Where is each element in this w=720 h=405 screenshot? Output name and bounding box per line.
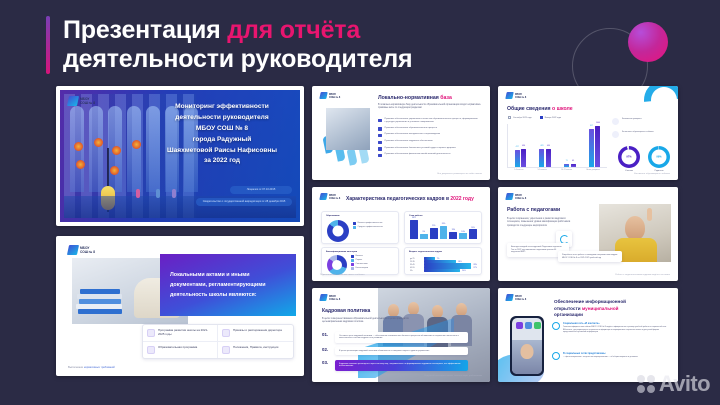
list-item-label: Программа развития школы на 2021-2025 го… [158,329,213,337]
x-tick-label: 10-11 классы [561,169,572,171]
presentation-preview-card: Презентация для отчёта деятельности руко… [0,0,720,405]
legend-label: Среднее профессиональное [358,226,383,229]
avito-logo-icon [637,375,655,393]
heading-main: Характеристика педагогических кадров в [346,196,449,202]
heading-line2-main: открытости [554,306,581,311]
documents-card-list: Программа развития школы на 2021-2025 го… [142,324,294,359]
title-line2: деятельности руководителя [63,45,412,74]
logo-line2: СОШ № 8 [515,298,526,301]
normative-items-list: Правовое обеспечение управления и качест… [378,118,482,160]
legend-swatch [353,222,356,225]
gauge-value: 97% [622,150,637,165]
list-item: Правовое обеспечение управления и качест… [378,118,482,124]
logo-mark-icon [319,92,327,99]
slide-footer: Педагогический коллектив школы стабилен [320,274,364,276]
list-item-label: Правовое обеспечение финансово-хозяйстве… [385,153,451,156]
logo-line2: СОШ № 8 [515,96,526,99]
logo-line2: СОШ № 8 [80,250,95,254]
network-icon [552,352,560,360]
slide-intro: В локально-нормативную базу деятельности… [378,104,482,111]
x-tick-label: Всего учащихся [586,169,599,171]
donut-chart [327,220,349,242]
list-item: Правовое обеспечение безопасных условий … [378,147,482,151]
bar-chart: 38% 9% 21% 26% 13% 10% 18% [410,216,477,239]
school-logo: МБОУ СОШ № 8 [506,294,526,301]
horizontal-bar-chart: до 257% 25-3518% 35-4528% 45-5527% 55+20… [410,257,477,271]
school-logo: МБОУ СОШ № 8 [320,294,340,301]
slide-heading: Кадровая политика [322,308,370,314]
slide-intro: В целях сохранения, укрепления и развити… [507,218,577,228]
normative-photo [326,108,370,150]
chart-legend: Высшее профессиональное Среднее професси… [353,222,397,230]
note-text: Количество учащихся [622,118,674,121]
info-icon [612,118,619,125]
legend-label: Высшее профессиональное [358,222,383,225]
person-figure [136,189,140,198]
person-figure [156,189,160,198]
list-item-label: Правовое обеспечение безопасных условий … [385,147,456,150]
slide-school-info[interactable]: МБОУ СОШ № 8 Общие сведения о школе Сент… [498,86,678,180]
rules-icon [222,346,230,354]
bullet-icon [378,127,382,131]
list-item: Правовое обеспечение кадрового обеспечен… [378,140,482,144]
slide-title-heading: Мониторинг эффективности деятельности ру… [152,102,292,167]
slide-intro: В целях совершенствования образовательно… [322,318,410,325]
flower-decor [76,160,85,169]
list-item-label: Правовое обеспечение управления и качест… [385,118,483,124]
openness-section-2: В социальных сетях представлены — фото м… [552,352,670,360]
accent-bar [46,16,50,74]
heading-main: Общие сведения [507,106,551,112]
bullet-icon [378,119,382,123]
legend-label: Январь 2022 года [545,117,561,119]
list-item[interactable]: Программа развития школы на 2021-2025 го… [143,325,218,342]
gauge-value: 99% [652,150,667,165]
panel-line: деятельность школы являются: [170,290,266,300]
legend-label: Сентябрь 2021 года [513,117,532,119]
numbered-item: 02. В целях реализации кадровой политики… [322,347,468,355]
slide-heading: Локально-нормативная база [378,95,452,101]
heading-line: города Радужный [152,135,292,146]
slide-staff-characteristics[interactable]: МБОУ СОШ № 8 Характеристика педагогическ… [312,187,490,281]
logo-line2: СОШ № 8 [329,298,340,301]
hand-shape [647,208,652,221]
app-icon [525,322,532,329]
list-item[interactable]: Образовательная программа [143,342,218,358]
x-tick-label: 1-4 классы [514,169,523,171]
school-logo: МБОУ СОШ № 8 [320,92,340,99]
heading-line2-accent: муниципальной [582,306,619,311]
slide-title[interactable]: МБОУ СОШ № 8 Мониторинг эффективности де… [56,86,304,226]
slide-hr-policy[interactable]: МБОУ СОШ № 8 Кадровая политика В целях с… [312,288,490,382]
face-shape [521,344,534,359]
list-item-label: Правовое обеспечение образовательного пр… [385,127,438,130]
item-number: 01. [322,332,332,337]
legend-label: Первая [356,259,363,262]
school-logo: МБОУ СОШ № 8 [320,193,340,200]
item-text: Основная цель кадровой политики — обеспе… [335,332,468,343]
avito-wordmark: Avito [659,371,710,397]
slide-heading: Работа с педагогами [507,207,560,213]
heading-accent: база [440,95,452,101]
heading-line: за 2022 год [152,156,292,167]
enrollment-bar-chart: 417436 423450 7165 9171000 [507,124,607,168]
logo-mark-icon [67,96,79,106]
decor-drop [346,147,357,165]
list-item: Правовое обеспечение финансово-хозяйстве… [378,153,482,157]
list-item-label: Положения, Правила, инструкции [233,346,278,350]
numbered-item: 03. Кадровая политика реализуется через … [322,360,468,371]
logo-line2: СОШ № 8 [329,96,340,99]
slide-footer: Контингент обучающихся стабилен [634,173,670,175]
heading-line3: организации [554,312,666,319]
slide-information-openness[interactable]: МБОУ СОШ № 8 Обеспечение информационной … [498,288,678,382]
chart-qualification: Квалификационная категория Высшая Первая… [321,247,399,275]
school-logo: МБОУ СОШ № 8 [68,245,95,255]
donut-chart [327,255,347,275]
flower-decor [94,138,103,147]
flower-decor [74,142,83,151]
page-title: Презентация для отчёта деятельности руко… [63,16,412,74]
heading-line: Мониторинг эффективности [152,102,292,113]
accreditation-badge: Свидетельство о государственной аккредит… [196,198,292,206]
logo-line2: СОШ № 8 [80,101,95,105]
logo-mark-icon [319,193,327,200]
list-item[interactable]: Положения, Правила, инструкции [218,342,293,358]
item-number: 02. [322,347,332,352]
app-icon [534,322,541,329]
section-text: Главным официальным сайтом МБОУ СОШ № 8 … [563,326,670,334]
heading-line: МБОУ СОШ № 8 [152,124,292,135]
title-line1-accent: для отчёта [227,16,360,44]
logo-line2: СОШ № 8 [329,197,340,200]
heading-accent: о школе [552,106,573,112]
flower-decor [110,166,119,175]
gauge-parents: 99% [648,146,670,168]
section-text: — фото материалов с актуальных мероприят… [563,356,638,359]
slide-footer: Кадровый потенциал школы соответствует т… [424,375,482,377]
heading-line: Шаяхметовой Раисы Нафисовны [152,146,292,157]
slide-work-with-teachers[interactable]: МБОУ СОШ № 8 Работа с педагогами В целях… [498,187,678,281]
openness-section-1: Социальная сеть «В контакте» Главным офи… [552,322,670,334]
list-item-label: Правовое обеспечение кадрового обеспечен… [385,140,433,143]
license-badge: Лицензия от 07.10.2015 [230,186,292,194]
slide-footer: Работа с педагогическими кадрами ведётся… [615,274,670,276]
item-text: В целях реализации кадровой политики обн… [335,347,468,355]
legend-swatch [353,226,356,229]
slides-grid: МБОУ СОШ № 8 Мониторинг эффективности де… [56,86,678,386]
heading-main: Локально-нормативная [378,95,439,101]
title-line1-main: Презентация [63,16,221,44]
footer-static: Выполнение [68,366,84,369]
slide-heading: Характеристика педагогических кадров в 2… [346,196,474,202]
bullet-icon [378,134,382,138]
section-heading: Социальная сеть «В контакте» [563,322,670,325]
phone-mockup [510,316,544,376]
panel-line: Локальными актами и иными [170,270,266,280]
flower-decor [132,140,141,149]
gauge-label: Ученики [616,170,642,172]
heading-line: деятельности руководителя [152,113,292,124]
chart-age: Возраст педагогических кадров до 257% 25… [404,247,482,275]
bullet-icon [378,147,382,151]
list-item: Правовое обеспечение образовательного пр… [378,127,482,131]
flower-decor [112,146,121,155]
slide-documents[interactable]: МБОУ СОШ № 8 Локальными актами и иными д… [56,236,304,376]
numbered-item: 01. Основная цель кадровой политики — об… [322,332,468,343]
page-header: Презентация для отчёта деятельности руко… [46,16,412,74]
gauge-students: 97% [618,146,640,168]
documents-panel: Локальными актами и иными документами, р… [160,254,296,316]
heading-accent: 2022 году [450,196,474,202]
clock-icon [612,131,619,138]
program-icon [147,346,155,354]
heading-line1: Обеспечение информационной [554,299,666,306]
legend-label: Без категории [356,267,368,270]
legend-label: Соответствие [356,263,368,266]
list-item-label: Образовательная программа [158,346,197,350]
chart-legend: Сентябрь 2021 года Январь 2022 года [508,116,561,119]
logo-mark-icon [67,245,79,255]
logo-mark-icon [505,294,513,301]
info-note: Контингент обучающихся стабилен [612,131,674,138]
phone-screen [512,318,542,374]
list-item[interactable]: Приказы и распоряжения директора [218,325,293,342]
vk-icon [552,322,560,330]
app-icon [516,322,523,329]
slide-footer: Выполнение нормативных требований [68,366,115,369]
bullet-icon [378,141,382,145]
order-icon [222,329,230,337]
info-card: Разработан план работы с молодыми специа… [558,251,622,262]
chart-experience: Стаж работы 38% 9% 21% 26% 13% 10% 18% [404,211,482,244]
logo-mark-icon [505,193,513,200]
face-shape [625,216,645,240]
person-figure [172,189,176,198]
footer-link: нормативных требований [84,366,115,369]
slide-footer: Все документы размещены на сайте школы [437,173,482,175]
avito-watermark: Avito [637,371,710,397]
bullet-icon [378,154,382,158]
panel-line: документами, регламентирующими [170,280,266,290]
school-logo: МБОУ СОШ № 8 [506,92,526,99]
logo-line2: СОШ № 8 [515,197,526,200]
logo-mark-icon [319,294,327,301]
person-photo [512,340,542,374]
chart-x-labels: 1-4 классы 5-9 классы 10-11 классы Всего… [507,169,607,171]
section-heading: В социальных сетях представлены [563,352,638,355]
list-item-label: Приказы и распоряжения директора [233,329,282,333]
info-note: Количество учащихся [612,118,674,125]
item-number: 03. [322,360,332,365]
chart-label: Квалификационная категория [326,251,357,253]
slide-heading: Обеспечение информационной открытости му… [554,299,666,319]
chart-label: Возраст педагогических кадров [409,251,442,253]
chart-education: Образование Высшее профессиональное Сред… [321,211,399,244]
legend-label: Высшая [356,255,363,258]
x-tick-label: 5-9 классы [538,169,547,171]
gauge-label: Родители [646,170,672,172]
decorative-sphere [628,22,668,62]
slide-normative-base[interactable]: МБОУ СОШ № 8 Локально-нормативная база В… [312,86,490,180]
list-item: Правовое обеспечение методического сопро… [378,133,482,137]
chart-legend: Высшая Первая Соответствие Без категории [351,255,397,271]
note-text: Контингент обучающихся стабилен [622,131,674,134]
school-logo: МБОУ СОШ № 8 [68,96,95,106]
item-text-highlighted: Кадровая политика реализуется через сист… [335,360,468,371]
school-logo: МБОУ СОШ № 8 [506,193,526,200]
logo-mark-icon [505,92,513,99]
document-icon [147,329,155,337]
list-item-label: Правовое обеспечение методического сопро… [385,133,441,136]
slide-heading: Общие сведения о школе [507,106,573,112]
chart-label: Образование [326,215,340,217]
